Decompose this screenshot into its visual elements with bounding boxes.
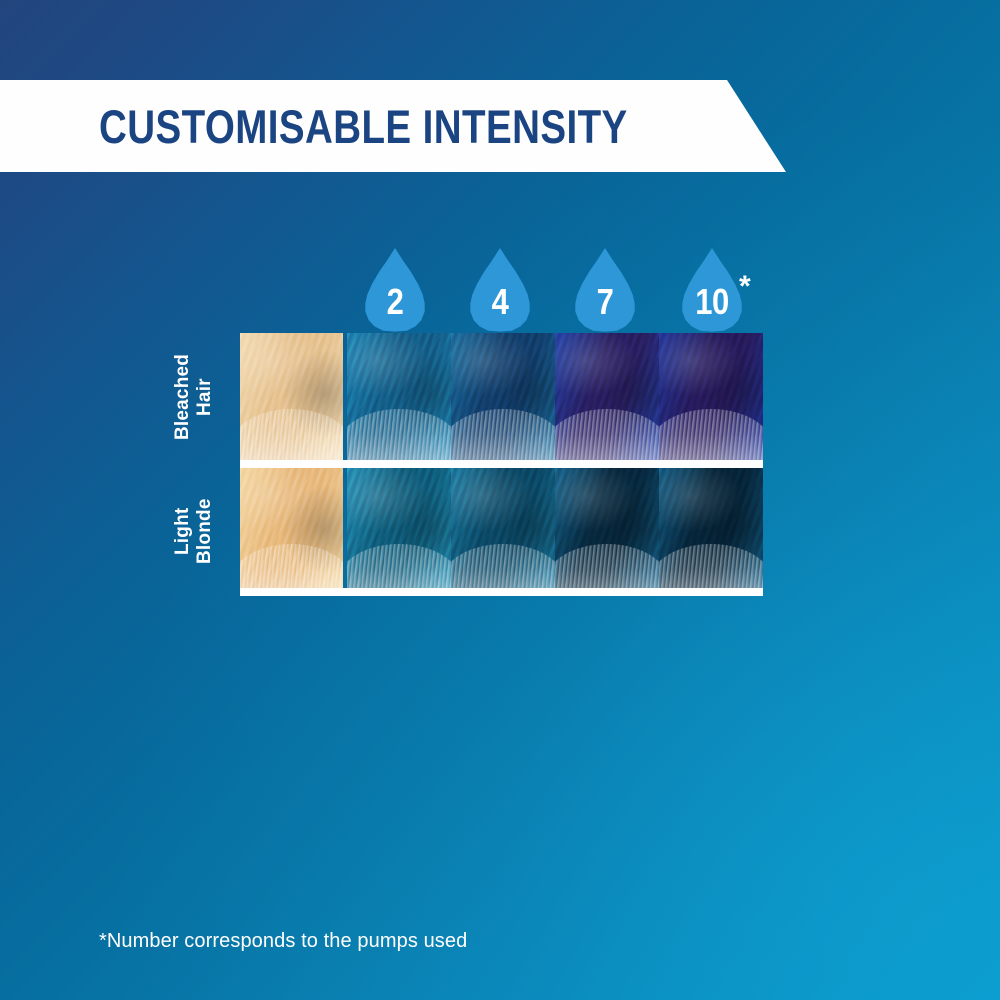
droplet-marker-10[interactable]: 10 xyxy=(679,248,745,336)
page-title: CUSTOMISABLE INTENSITY xyxy=(99,103,628,150)
swatch-bleached-level-4 xyxy=(451,333,555,460)
swatch-bleached-level-2 xyxy=(347,333,451,460)
title-banner: CUSTOMISABLE INTENSITY xyxy=(0,80,790,172)
swatch-light-blonde-level-2 xyxy=(347,468,451,595)
hair-curl-highlight xyxy=(347,409,451,460)
row-label-line-2: Hair xyxy=(194,336,216,458)
swatch-light-blonde-level-7 xyxy=(555,468,659,595)
row-label-line-2: Blonde xyxy=(194,470,216,592)
hair-curl-highlight xyxy=(451,409,555,460)
swatch-bleached-level-10 xyxy=(659,333,763,460)
hair-curl-highlight xyxy=(659,409,763,460)
droplet-marker-2[interactable]: 2 xyxy=(362,248,428,336)
row-label-bleached-hair: Bleached Hair xyxy=(172,336,216,458)
row-label-light-blonde: Light Blonde xyxy=(172,470,216,592)
swatch-bleached-before xyxy=(240,333,343,460)
chart-row-bleached-hair xyxy=(240,333,763,460)
chart-bottom-rule xyxy=(240,588,763,596)
droplet-number-label: 10 xyxy=(684,284,741,320)
row-label-line-1: Bleached xyxy=(172,336,194,458)
droplet-number-label: 2 xyxy=(367,284,424,320)
droplet-number-label: 7 xyxy=(577,284,634,320)
intensity-swatch-chart xyxy=(240,333,763,596)
swatch-light-blonde-level-4 xyxy=(451,468,555,595)
droplet-marker-4[interactable]: 4 xyxy=(467,248,533,336)
hair-curl-highlight xyxy=(555,409,659,460)
droplet-number-label: 4 xyxy=(472,284,529,320)
droplet-marker-7[interactable]: 7 xyxy=(572,248,638,336)
footnote-text: *Number corresponds to the pumps used xyxy=(99,930,467,953)
swatch-light-blonde-level-10 xyxy=(659,468,763,595)
row-divider xyxy=(240,460,763,468)
hair-curl-highlight xyxy=(240,409,343,460)
swatch-bleached-level-7 xyxy=(555,333,659,460)
row-label-line-1: Light xyxy=(172,470,194,592)
swatch-light-blonde-before xyxy=(240,468,343,595)
chart-row-light-blonde xyxy=(240,468,763,595)
infographic-page: CUSTOMISABLE INTENSITY xyxy=(0,0,1000,1000)
